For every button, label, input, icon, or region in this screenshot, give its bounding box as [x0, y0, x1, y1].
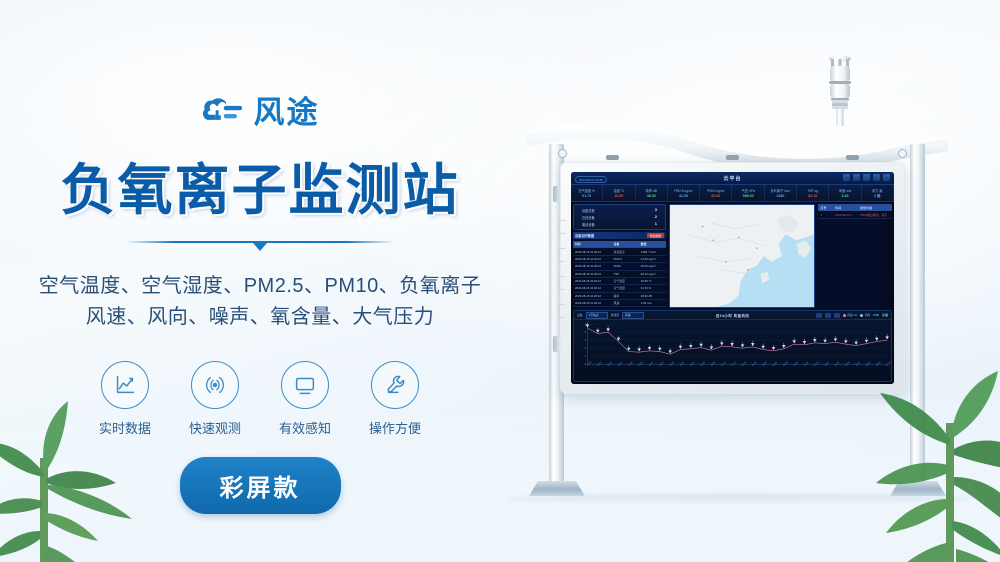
kpi-value: 82.10	[808, 194, 817, 198]
kpi-value: 66.00	[711, 194, 720, 198]
device-stat-row: 设备总数3	[582, 208, 657, 213]
kpi-value: 61.70	[582, 194, 591, 198]
kpi-value: 998.00	[743, 194, 754, 198]
device-stat-row: 离线设备1	[582, 222, 657, 227]
kpi-value: 2.60	[842, 194, 849, 198]
kpi-cell: 负氧离子 /cm³1280	[765, 185, 797, 201]
kpi-cell: 温度 ℃32.50	[603, 185, 635, 201]
hero-subtitle: 空气温度、空气湿度、PM2.5、PM10、负氧离子 风速、风向、噪声、氧含量、大…	[39, 271, 482, 333]
export-data-button[interactable]: 导出数据	[647, 233, 664, 238]
table-cell: 空气湿度	[612, 285, 639, 291]
dashboard-screen[interactable]: 2023-08-15 10:26 云平台 空气湿度 %61.70温度 ℃32.5…	[571, 172, 894, 384]
divider-triangle-icon	[125, 241, 395, 253]
table-row[interactable]: 2023-08-15 10:26:12风向东南风	[573, 307, 666, 308]
svg-text:5: 5	[585, 331, 587, 334]
svg-text:01:00: 01:00	[887, 361, 891, 367]
kpi-value: 2 级	[874, 194, 881, 199]
mount-bracket	[606, 155, 619, 160]
table-cell: 风速	[612, 300, 639, 306]
display-cabinet: 2023-08-15 10:26 云平台 空气湿度 %61.70温度 ℃32.5…	[560, 162, 905, 394]
wind-trend-chart: 65421010:3011:0011:3012:0012:3013:0013:3…	[574, 320, 891, 381]
stat-label: 离线设备	[582, 222, 595, 227]
kpi-label: PM2.5 ug/m³	[674, 189, 692, 193]
kpi-label: 空气湿度 %	[578, 188, 594, 193]
support-post-right	[910, 144, 925, 496]
table-cell: PM2.5	[612, 256, 639, 262]
table-cell: 负氧离子	[612, 248, 639, 254]
stat-label: 设备总数	[582, 208, 595, 213]
line-chart-icon	[101, 361, 149, 409]
table-cell: 82.10 ug/m³	[639, 271, 666, 277]
kpi-cell: 风速 m/s2.60	[829, 185, 861, 201]
metric-select-label: 监测项	[611, 313, 619, 317]
dashboard-header: 2023-08-15 10:26 云平台	[571, 172, 894, 185]
kpi-cell: TSP ug82.10	[797, 185, 829, 201]
device-select-label: 设备	[577, 313, 583, 317]
device-select[interactable]: 1号站点	[586, 312, 608, 319]
gear-icon[interactable]	[883, 174, 890, 181]
kpi-value: 41.00	[679, 194, 688, 198]
color-screen-model-button[interactable]: 彩屏款	[180, 457, 341, 514]
table-cell: 2023-08-15 10:26:12	[573, 248, 612, 254]
cabinet-vent	[558, 220, 565, 234]
chart-legend-item-1: 风速 m/s	[843, 313, 858, 317]
chart-legend-item-2: 风向	[860, 313, 870, 317]
feature-item-effective-sensing[interactable]: 有效感知	[277, 361, 333, 437]
kpi-label: 温度 ℃	[614, 188, 625, 193]
realtime-data-table[interactable]: 时间设备数值2023-08-15 10:26:12负氧离子1280 个/cm³2…	[573, 241, 666, 308]
table-cell: 2023-08-15 10:26:12	[573, 293, 612, 299]
dashboard-center-column	[668, 202, 817, 310]
kpi-label: 风速 m/s	[839, 188, 851, 193]
table-cell: 2023-08-15 10:26:12	[573, 271, 612, 277]
feature-label: 有效感知	[279, 418, 331, 437]
kpi-cell: 噪声 dB48.30	[636, 185, 668, 201]
table-row[interactable]: 2023-08-15 10:26:12空气湿度61.70 %	[573, 285, 666, 292]
table-row[interactable]: 2023-08-15 10:26:12风速2.60 m/s	[573, 300, 666, 307]
china-asia-map[interactable]	[669, 204, 816, 308]
stat-value: 3	[655, 208, 657, 212]
feature-label: 快速观测	[189, 418, 241, 437]
feature-list: 实时数据 快速观测 有效感知	[97, 361, 423, 437]
table-row[interactable]: 2023-08-15 10:26:12负氧离子1280 个/cm³	[573, 248, 666, 255]
table-cell: 2023-08-15 10:26:12	[573, 256, 612, 262]
legend-label: 风速 m/s	[847, 313, 857, 317]
cabinet-hinge-bottom	[553, 336, 561, 352]
table-column-header: 设备	[612, 241, 639, 247]
cabinet-vent	[558, 248, 565, 262]
mount-eyelet-left	[558, 149, 567, 158]
kpi-label: 风力 级	[872, 188, 882, 193]
table-cell: 东南风	[639, 307, 666, 308]
wrench-icon	[371, 361, 419, 409]
chart-zoom-button[interactable]	[816, 313, 822, 318]
stat-label: 在线设备	[582, 215, 595, 220]
cabinet-vent	[558, 304, 565, 318]
kpi-cell: 气压 hPa998.00	[732, 185, 764, 201]
alert-cell: 2023-08-15 10:18	[833, 212, 858, 218]
kpi-value: 1280	[776, 194, 784, 198]
table-cell: PM10	[612, 263, 639, 269]
dashboard-right-column: 序号时间报警内容 12023-08-15 10:18PM10超过阈值，请及时处理	[816, 202, 894, 310]
kpi-cell: 空气湿度 %61.70	[571, 185, 603, 201]
table-column-header: 数值	[639, 241, 666, 247]
divider-arrow	[253, 243, 267, 251]
table-cell: 2023-08-15 10:26:12	[573, 263, 612, 269]
kpi-value: 32.50	[614, 194, 623, 198]
table-cell: 2023-08-15 10:26:12	[573, 278, 612, 284]
radar-scan-icon	[191, 361, 239, 409]
mount-eyelet-right	[898, 149, 907, 158]
mount-bracket	[846, 155, 859, 160]
chart-stat-windspeed: 2.60	[873, 313, 879, 317]
metric-select-value: 风速	[625, 313, 631, 317]
device-stats-panel: 设备总数3在线设备2离线设备1	[573, 204, 666, 230]
alert-column-header: 报警内容	[858, 204, 892, 211]
map-icon[interactable]	[873, 174, 880, 181]
kpi-label: 负氧离子 /cm³	[771, 188, 791, 193]
stat-value: 1	[655, 222, 657, 226]
dashboard-nav-icons[interactable]	[843, 174, 890, 181]
feature-label: 实时数据	[99, 418, 151, 437]
alert-row[interactable]: 12023-08-15 10:18PM10超过阈值，请及时处理	[818, 212, 892, 219]
chart-refresh-button[interactable]	[834, 313, 840, 318]
cabinet-hinge-top	[553, 186, 561, 202]
table-header-row: 时间设备数值	[573, 241, 666, 248]
chart-icon[interactable]	[853, 174, 860, 181]
table-cell: 2023-08-15 10:26:12	[573, 300, 612, 306]
kpi-cell: 风力 级2 级	[862, 185, 894, 201]
device-stat-row: 在线设备2	[582, 215, 657, 220]
subtitle-line-1: 空气温度、空气湿度、PM2.5、PM10、负氧离子	[39, 271, 482, 302]
base-flange-left	[529, 481, 585, 496]
table-cell: 2023-08-15 10:26:12	[573, 307, 612, 308]
table-cell: TSP	[612, 271, 639, 277]
ultrasonic-weather-sensor-icon	[823, 54, 857, 126]
kpi-row: 空气湿度 %61.70温度 ℃32.50噪声 dB48.30PM2.5 ug/m…	[571, 185, 894, 202]
kpi-label: 噪声 dB	[646, 188, 657, 193]
chart-title: 近24小时 风速风向	[716, 313, 749, 318]
table-cell: 空气温度	[612, 278, 639, 284]
table-column-header: 时间	[573, 241, 612, 247]
wind-cloud-logo-icon	[201, 96, 245, 129]
chart-plot-area: 65421010:3011:0011:3012:0012:3013:0013:3…	[574, 320, 891, 381]
dashboard-left-column: 设备总数3在线设备2离线设备1 设备实时数据 导出数据 时间设备数值2023-0…	[571, 202, 668, 310]
table-cell: 61.70 %	[639, 285, 666, 291]
dashboard-title: 云平台	[723, 175, 741, 182]
page-title: 负氧离子监测站	[60, 145, 459, 225]
metric-select[interactable]: 风速	[622, 312, 644, 319]
feature-item-fast-observation[interactable]: 快速观测	[187, 361, 243, 437]
trend-chart-panel: 设备 1号站点 监测项 风速 近24小时 风速风向 风速 m/s	[573, 310, 892, 382]
table-cell: 2023-08-15 10:26:12	[573, 285, 612, 291]
stat-value: 2	[655, 215, 657, 219]
mount-bracket	[726, 155, 739, 160]
table-cell: 41.00 ug/m³	[639, 256, 666, 262]
table-cell: 32.50 ℃	[639, 278, 666, 284]
table-row[interactable]: 2023-08-15 10:26:12噪声48.30 dB	[573, 293, 666, 300]
kpi-value: 48.30	[647, 194, 656, 198]
table-cell: 风向	[612, 307, 639, 308]
feature-item-realtime-data[interactable]: 实时数据	[97, 361, 153, 437]
svg-text:2: 2	[585, 347, 587, 350]
data-table-header: 设备实时数据 导出数据	[573, 232, 666, 239]
table-cell: 48.30 dB	[639, 293, 666, 299]
feature-item-easy-operation[interactable]: 操作方便	[367, 361, 423, 437]
chart-toolbar[interactable]: 设备 1号站点 监测项 风速 近24小时 风速风向 风速 m/s	[574, 311, 891, 320]
subtitle-line-2: 风速、风向、噪声、氧含量、大气压力	[39, 302, 482, 333]
svg-text:4: 4	[585, 339, 587, 342]
alert-table-header: 序号时间报警内容	[818, 204, 892, 211]
brand-logo: 风途	[201, 96, 320, 129]
kpi-cell: PM2.5 ug/m³41.00	[668, 185, 700, 201]
base-flange-right	[890, 481, 946, 496]
panel-title: 设备实时数据	[575, 233, 594, 238]
kpi-label: 气压 hPa	[742, 188, 755, 193]
table-row[interactable]: 2023-08-15 10:26:12TSP82.10 ug/m³	[573, 271, 666, 278]
dashboard-body: 设备总数3在线设备2离线设备1 设备实时数据 导出数据 时间设备数值2023-0…	[571, 202, 894, 310]
table-row[interactable]: 2023-08-15 10:26:12PM1066.00 ug/m³	[573, 263, 666, 270]
monitoring-station-kiosk: 2023-08-15 10:26 云平台 空气湿度 %61.70温度 ℃32.5…	[505, 52, 970, 522]
device-select-value: 1号站点	[589, 313, 599, 317]
table-row[interactable]: 2023-08-15 10:26:12PM2.541.00 ug/m³	[573, 256, 666, 263]
svg-text:1: 1	[585, 355, 587, 358]
table-row[interactable]: 2023-08-15 10:26:12空气温度32.50 ℃	[573, 278, 666, 285]
dashboard-time-badge: 2023-08-15 10:26	[575, 176, 607, 183]
cabinet-vent	[558, 276, 565, 290]
table-cell: 1280 个/cm³	[639, 248, 666, 254]
table-cell: 66.00 ug/m³	[639, 263, 666, 269]
kpi-label: PM10 ug/m³	[707, 189, 724, 193]
table-cell: 2.60 m/s	[639, 300, 666, 306]
chart-stat-winddir: 东南	[882, 313, 888, 317]
alert-cell: 1	[818, 212, 833, 218]
hero-text-panel: 风途 负氧离子监测站 空气温度、空气湿度、PM2.5、PM10、负氧离子 风速、…	[0, 0, 520, 562]
monitor-screen-icon	[281, 361, 329, 409]
list-icon[interactable]	[863, 174, 870, 181]
grid-icon[interactable]	[843, 174, 850, 181]
kpi-label: TSP ug	[807, 189, 818, 193]
chart-export-button[interactable]	[825, 313, 831, 318]
alert-cell: PM10超过阈值，请及时处理	[858, 212, 892, 218]
alert-column-header: 时间	[833, 204, 858, 211]
feature-label: 操作方便	[369, 418, 421, 437]
alert-table-body[interactable]: 12023-08-15 10:18PM10超过阈值，请及时处理	[818, 212, 892, 219]
brand-wordmark: 风途	[254, 97, 320, 128]
alert-column-header: 序号	[818, 204, 833, 211]
legend-label: 风向	[865, 313, 870, 317]
table-cell: 噪声	[612, 293, 639, 299]
kpi-cell: PM10 ug/m³66.00	[700, 185, 732, 201]
